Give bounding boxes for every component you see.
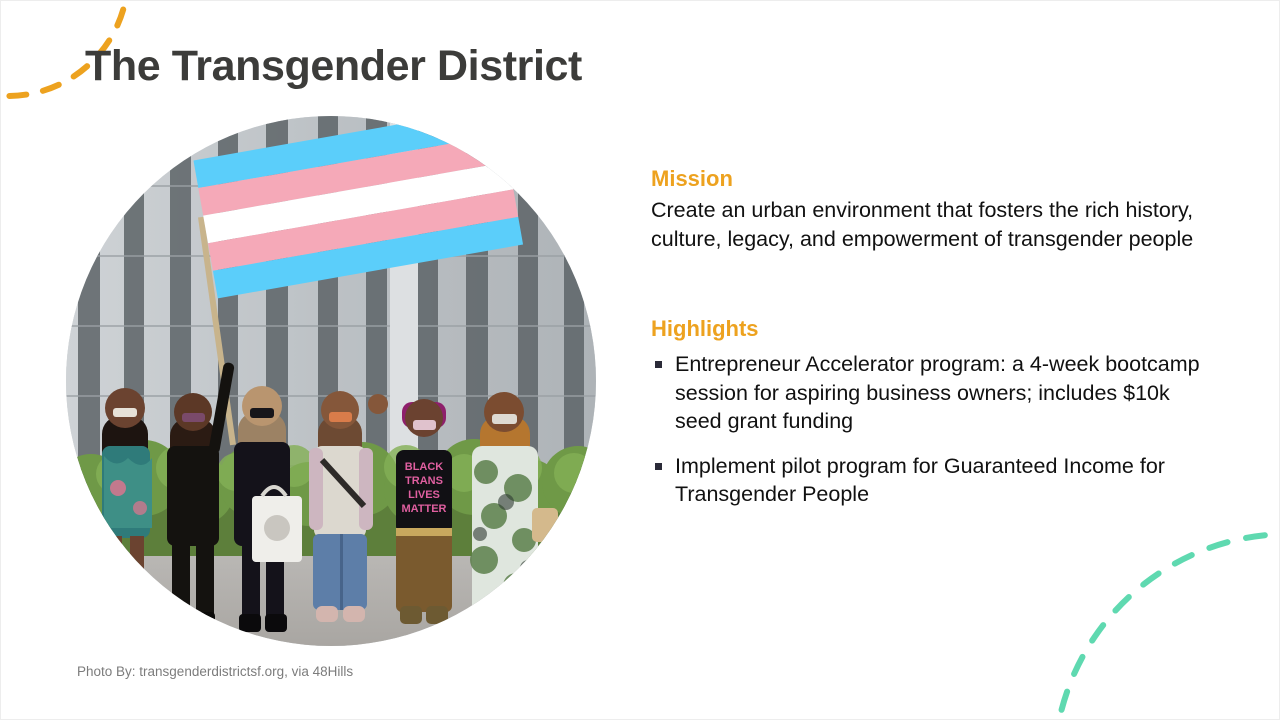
circular-photo: BLACK TRANS LIVES MATTER (66, 116, 596, 646)
page-title: The Transgender District (85, 42, 582, 91)
svg-text:BLACK: BLACK (405, 461, 444, 473)
photo-credit: Photo By: transgenderdistrictsf.org, via… (77, 664, 353, 679)
svg-text:LIVES: LIVES (408, 489, 440, 501)
svg-text:MATTER: MATTER (401, 503, 446, 515)
mission-heading: Mission (651, 166, 1211, 192)
highlights-list: Entrepreneur Accelerator program: a 4-we… (651, 350, 1211, 509)
teal-dashed-arc-decoration (1019, 519, 1280, 720)
slide-canvas: The Transgender District (0, 0, 1280, 720)
svg-text:TRANS: TRANS (405, 475, 443, 487)
photo-illustration: BLACK TRANS LIVES MATTER (66, 116, 596, 646)
list-item: Entrepreneur Accelerator program: a 4-we… (651, 350, 1211, 436)
mission-block: Mission Create an urban environment that… (651, 166, 1211, 254)
highlights-block: Highlights Entrepreneur Accelerator prog… (651, 316, 1211, 509)
mission-body: Create an urban environment that fosters… (651, 196, 1211, 253)
content-column: Mission Create an urban environment that… (651, 166, 1211, 525)
list-item: Implement pilot program for Guaranteed I… (651, 452, 1211, 509)
highlights-heading: Highlights (651, 316, 1211, 342)
